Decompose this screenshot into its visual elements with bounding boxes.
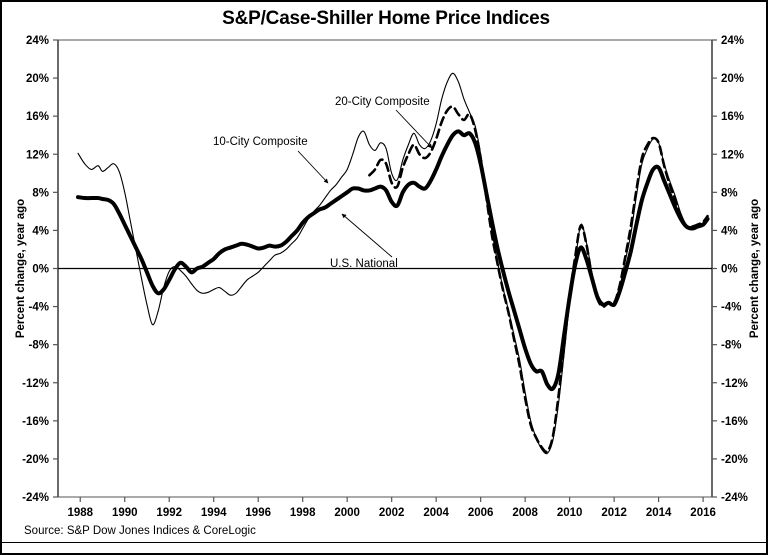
annotation-us-national: U.S. National — [330, 214, 398, 270]
annotation-20-city-label: 20-City Composite — [335, 96, 430, 108]
x-tick-label: 2014 — [646, 507, 672, 519]
annotation-10-city: 10-City Composite — [213, 136, 328, 183]
x-tick-label: 1990 — [112, 507, 138, 519]
y-axis-right-ticks: 24%20%16%12%8%4%0%-4%-8%-12%-16%-20%-24% — [712, 35, 748, 504]
y-tick-label-right: 24% — [721, 35, 744, 47]
y-tick-label-left: -8% — [29, 340, 49, 352]
y-tick-label-left: -24% — [22, 492, 49, 504]
y-tick-label-right: 4% — [721, 225, 738, 237]
chart-svg: 24%20%16%12%8%4%0%-4%-8%-12%-16%-20%-24%… — [2, 2, 768, 555]
y-tick-label-right: 12% — [721, 149, 744, 161]
y-tick-label-right: -8% — [721, 340, 741, 352]
x-tick-label: 1998 — [290, 507, 316, 519]
y-tick-label-left: -4% — [29, 302, 49, 314]
x-axis-ticks: 1988199019921994199619982000200220042006… — [67, 497, 715, 519]
y-tick-label-left: 20% — [26, 73, 49, 85]
x-tick-label: 1994 — [201, 507, 227, 519]
x-tick-label: 2006 — [468, 507, 494, 519]
y-tick-label-right: 8% — [721, 187, 738, 199]
annotation-10-city-leader-line — [298, 151, 328, 183]
annotation-20-city-leader-line — [396, 110, 432, 148]
y-tick-label-left: -16% — [22, 416, 49, 428]
x-tick-label: 2008 — [512, 507, 538, 519]
source-divider — [2, 542, 768, 543]
y-tick-label-right: -16% — [721, 416, 748, 428]
y-tick-label-right: -20% — [721, 454, 748, 466]
y-tick-label-left: 4% — [32, 225, 49, 237]
chart-page: S&P/Case-Shiller Home Price Indices 24%2… — [0, 0, 768, 555]
x-tick-label: 2010 — [557, 507, 583, 519]
x-tick-label: 2012 — [601, 507, 627, 519]
x-tick-label: 1992 — [156, 507, 182, 519]
y-axis-title-left: Percent change, year ago — [15, 199, 27, 338]
annotation-us-national-leader-line — [342, 214, 392, 257]
x-tick-label: 2000 — [334, 507, 360, 519]
y-tick-label-left: 12% — [26, 149, 49, 161]
x-tick-label: 2002 — [379, 507, 405, 519]
annotation-us-national-label: U.S. National — [330, 258, 398, 270]
y-axis-left-ticks: 24%20%16%12%8%4%0%-4%-8%-12%-16%-20%-24% — [22, 35, 58, 504]
x-tick-label: 1988 — [67, 507, 93, 519]
y-tick-label-right: 0% — [721, 264, 738, 276]
series-line-20-city-composite — [369, 107, 707, 452]
y-tick-label-right: -4% — [721, 302, 741, 314]
x-tick-label: 2016 — [690, 507, 716, 519]
y-axis-title-right: Percent change, year ago — [749, 199, 761, 338]
x-tick-label: 2004 — [423, 507, 449, 519]
y-tick-label-right: -12% — [721, 378, 748, 390]
source-note: Source: S&P Dow Jones Indices & CoreLogi… — [24, 525, 256, 537]
y-tick-label-right: -24% — [721, 492, 748, 504]
annotation-10-city-label: 10-City Composite — [213, 136, 308, 148]
x-tick-label: 1996 — [245, 507, 271, 519]
y-tick-label-left: -20% — [22, 454, 49, 466]
y-tick-label-right: 16% — [721, 111, 744, 123]
y-tick-label-left: 8% — [32, 187, 49, 199]
y-tick-label-left: 0% — [32, 264, 49, 276]
y-tick-label-left: 24% — [26, 35, 49, 47]
y-tick-label-right: 20% — [721, 73, 744, 85]
y-tick-label-left: 16% — [26, 111, 49, 123]
y-tick-label-left: -12% — [22, 378, 49, 390]
